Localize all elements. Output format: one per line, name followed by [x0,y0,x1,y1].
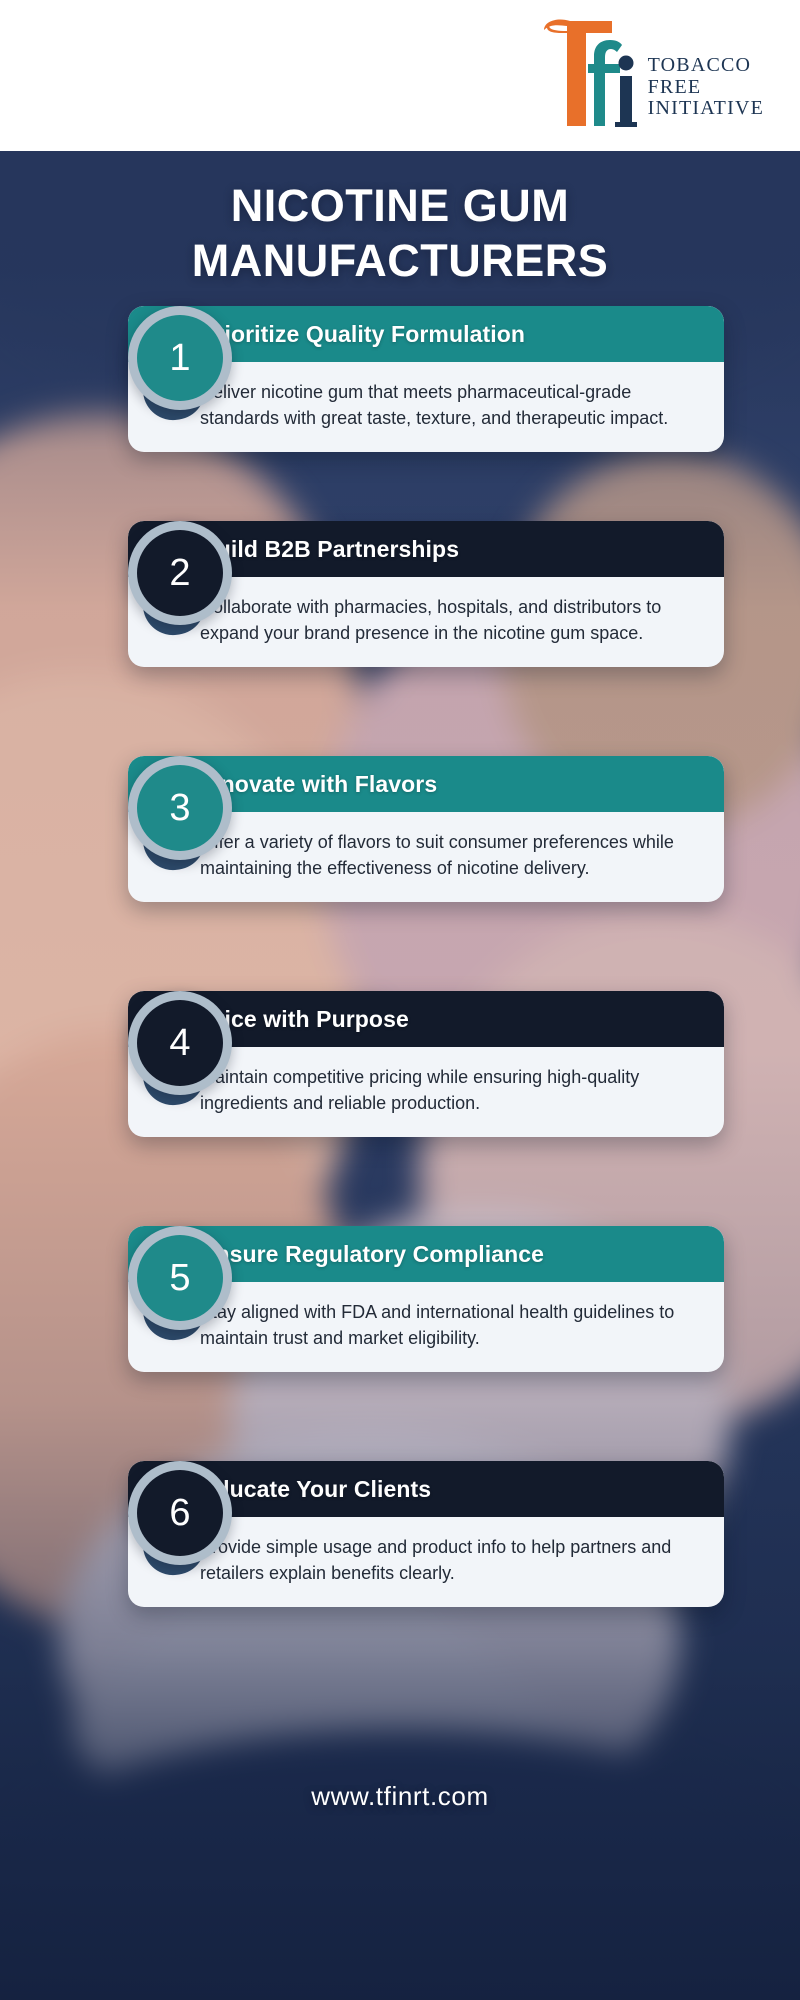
list-item[interactable]: Build B2B Partnerships Collaborate with … [128,521,724,667]
list-item[interactable]: Price with Purpose Maintain competitive … [128,991,724,1137]
badge-disc: 3 [137,765,223,851]
title-line-2: MANUFACTURERS [0,234,800,289]
list-item[interactable]: Educate Your Clients Provide simple usag… [128,1461,724,1607]
badge-number: 6 [169,1494,190,1532]
card-title: Ensure Regulatory Compliance [200,1241,544,1268]
wordmark-line-tobacco: TOBACCO [648,55,764,77]
badge-number: 1 [169,339,190,377]
wordmark-line-initiative: INITIATIVE [648,98,764,120]
title-line-1: NICOTINE GUM [0,179,800,234]
step-badge: 4 [128,991,236,1099]
card-title: Build B2B Partnerships [200,536,459,563]
badge-disc: 1 [137,315,223,401]
brand-wordmark: TOBACCO FREE INITIATIVE [648,55,764,132]
step-badge: 5 [128,1226,236,1334]
badge-disc: 5 [137,1235,223,1321]
step-badge: 1 [128,306,236,414]
badge-number: 4 [169,1024,190,1062]
badge-number: 2 [169,554,190,592]
footer-website-url[interactable]: www.tfinrt.com [0,1781,800,1812]
badge-disc: 6 [137,1470,223,1556]
step-badge: 3 [128,756,236,864]
list-item[interactable]: Innovate with Flavors Offer a variety of… [128,756,724,902]
badge-number: 3 [169,789,190,827]
step-badge: 6 [128,1461,236,1569]
brand-logo: TOBACCO FREE INITIATIVE [534,14,764,132]
step-badge: 2 [128,521,236,629]
wordmark-line-free: FREE [648,77,764,99]
badge-disc: 2 [137,530,223,616]
list-item[interactable]: Ensure Regulatory Compliance Stay aligne… [128,1226,724,1372]
logo-header-band: TOBACCO FREE INITIATIVE [0,0,800,151]
tfi-monogram-icon [534,14,642,132]
page-title: NICOTINE GUM MANUFACTURERS [0,179,800,289]
card-title: Prioritize Quality Formulation [200,321,525,348]
poster-body: NICOTINE GUM MANUFACTURERS Prioritize Qu… [0,151,800,2000]
list-item[interactable]: Prioritize Quality Formulation Deliver n… [128,306,724,452]
badge-number: 5 [169,1259,190,1297]
badge-disc: 4 [137,1000,223,1086]
